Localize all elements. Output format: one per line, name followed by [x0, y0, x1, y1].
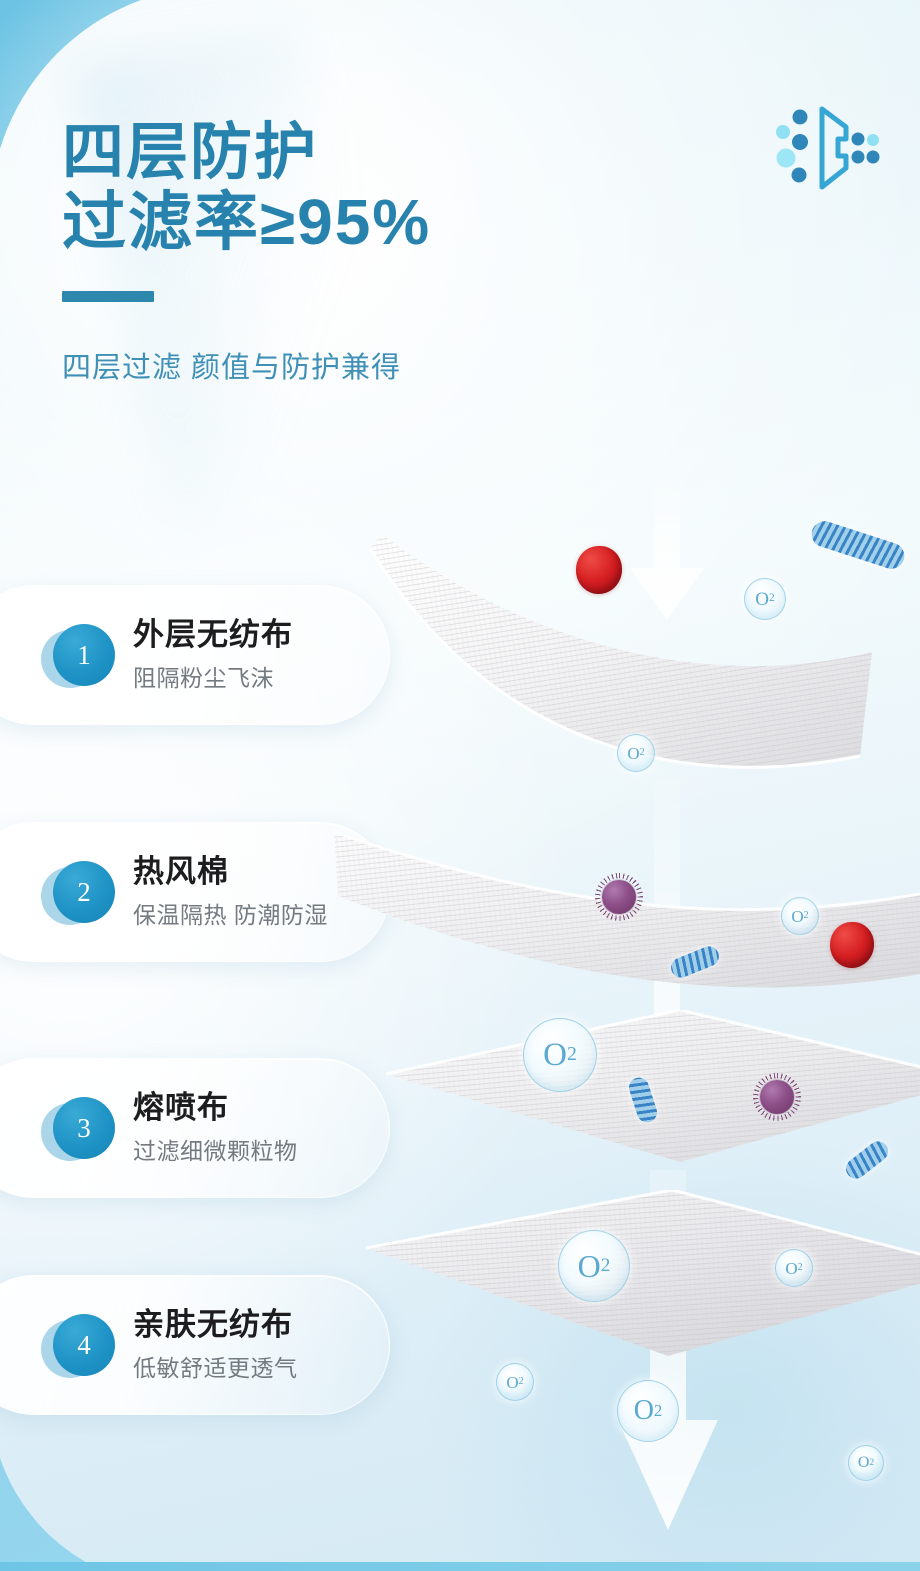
badge-3: 3 [53, 1097, 115, 1159]
oxygen-bubble-sub: 2 [640, 748, 645, 758]
page-subtitle: 四层过滤 颜值与防护兼得 [62, 344, 702, 386]
oxygen-bubble-o: O [785, 1260, 797, 1277]
oxygen-bubble-sub: 2 [769, 593, 775, 604]
feature-card-3-desc: 过滤细微颗粒物 [133, 1132, 298, 1166]
oxygen-bubble: O2 [775, 1249, 813, 1287]
page-title-line-1: 四层防护 [62, 118, 702, 187]
mask-layer-illustration: O2 O2 O2 O2 O2 O2 O2 O2 O2 [340, 470, 920, 1571]
badge-4: 4 [53, 1314, 115, 1376]
fabric-layer-3 [380, 1010, 920, 1240]
oxygen-bubble-o: O [627, 745, 639, 762]
oxygen-bubble: O2 [848, 1445, 884, 1481]
feature-card-1-text: 外层无纺布 阻隔粉尘飞沫 [133, 617, 293, 693]
purple-virus-particle [602, 880, 636, 914]
red-droplet-particle [830, 922, 874, 968]
feature-card-3-text: 熔喷布 过滤细微颗粒物 [133, 1090, 298, 1166]
oxygen-bubble-sub: 2 [804, 911, 809, 921]
oxygen-bubble: O2 [558, 1230, 630, 1302]
oxygen-bubble-o: O [506, 1374, 518, 1391]
oxygen-bubble: O2 [523, 1018, 597, 1092]
feature-card-2-text: 热风棉 保温隔热 防潮防湿 [133, 854, 328, 930]
product-infographic-poster: 四层防护 过滤率≥95% 四层过滤 颜值与防护兼得 [0, 0, 920, 1571]
oxygen-bubble-sub: 2 [869, 1458, 874, 1468]
badge-1: 1 [53, 624, 115, 686]
feature-card-1-desc: 阻隔粉尘飞沫 [133, 659, 293, 693]
feature-card-1[interactable]: 1 外层无纺布 阻隔粉尘飞沫 [0, 585, 390, 725]
header-block: 四层防护 过滤率≥95% 四层过滤 颜值与防护兼得 [62, 118, 702, 386]
feature-card-4-desc: 低敏舒适更透气 [133, 1349, 298, 1383]
oxygen-bubble-o: O [578, 1250, 601, 1282]
oxygen-bubble-sub: 2 [601, 1256, 611, 1275]
feature-card-4-text: 亲肤无纺布 低敏舒适更透气 [133, 1307, 298, 1383]
feature-card-1-title: 外层无纺布 [133, 617, 293, 654]
oxygen-bubble: O2 [781, 897, 819, 935]
page-title-line-2: 过滤率≥95% [62, 187, 702, 259]
oxygen-bubble: O2 [617, 734, 655, 772]
oxygen-bubble: O2 [744, 578, 786, 620]
badge-2-wrap: 2 [53, 861, 115, 923]
oxygen-bubble-sub: 2 [798, 1263, 803, 1273]
feature-card-2-title: 热风棉 [133, 854, 328, 891]
oxygen-bubble-o: O [858, 1455, 870, 1471]
badge-1-wrap: 1 [53, 624, 115, 686]
feature-card-4-title: 亲肤无纺布 [133, 1307, 298, 1344]
feature-card-2-desc: 保温隔热 防潮防湿 [133, 896, 328, 930]
oxygen-bubble-o: O [791, 908, 803, 925]
filter-barrier-icon [770, 95, 880, 200]
red-droplet-particle [576, 546, 622, 594]
oxygen-bubble: O2 [617, 1380, 679, 1442]
feature-card-3[interactable]: 3 熔喷布 过滤细微颗粒物 [0, 1058, 390, 1198]
badge-2: 2 [53, 861, 115, 923]
oxygen-bubble-o: O [755, 590, 769, 609]
oxygen-bubble-sub: 2 [654, 1403, 662, 1420]
badge-4-wrap: 4 [53, 1314, 115, 1376]
oxygen-bubble-o: O [543, 1039, 567, 1072]
badge-3-wrap: 3 [53, 1097, 115, 1159]
oxygen-bubble-sub: 2 [567, 1045, 577, 1065]
title-divider [62, 291, 154, 302]
oxygen-bubble-o: O [634, 1397, 654, 1425]
feature-card-3-title: 熔喷布 [133, 1090, 298, 1127]
feature-card-4[interactable]: 4 亲肤无纺布 低敏舒适更透气 [0, 1275, 390, 1415]
bottom-accent-strip [0, 1562, 920, 1571]
oxygen-bubble: O2 [496, 1363, 534, 1401]
oxygen-bubble-sub: 2 [519, 1377, 524, 1387]
purple-virus-particle [760, 1080, 794, 1114]
